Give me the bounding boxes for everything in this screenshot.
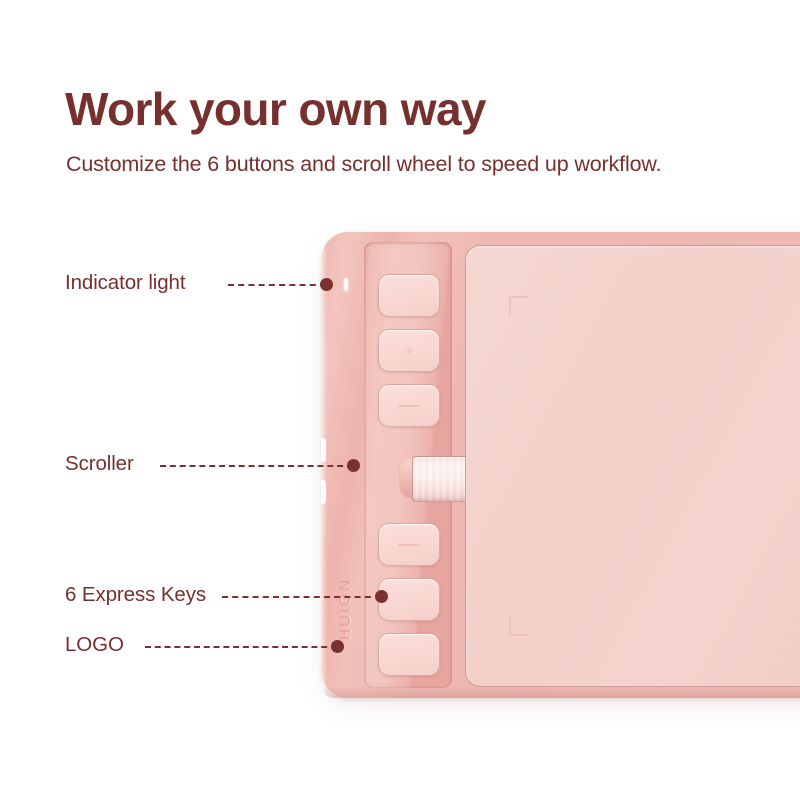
- graphics-tablet-illustration: HUION: [322, 232, 800, 698]
- express-key-2[interactable]: [378, 329, 440, 372]
- key-dash-glyph: [398, 544, 420, 546]
- callout-label-express-keys: 6 Express Keys: [65, 583, 206, 607]
- express-key-strip: [364, 242, 452, 688]
- callout-leader-indicator-light: [228, 284, 326, 286]
- huion-brand-logo: HUION: [337, 572, 355, 646]
- active-drawing-area[interactable]: [465, 245, 800, 687]
- callout-label-scroller: Scroller: [65, 452, 134, 476]
- key-dot-glyph: [407, 348, 412, 353]
- callout-label-indicator-light: Indicator light: [65, 271, 185, 295]
- infographic-canvas: Work your own way Customize the 6 button…: [0, 0, 800, 800]
- callout-dot-indicator-light: [320, 278, 333, 291]
- express-key-5[interactable]: [378, 578, 440, 621]
- express-key-4[interactable]: [378, 523, 440, 566]
- side-grip-notch-top: [321, 438, 326, 462]
- express-key-1[interactable]: [378, 274, 440, 317]
- corner-mark-bottom-left: [509, 617, 528, 636]
- callout-dot-scroller: [347, 459, 360, 472]
- page-title: Work your own way: [65, 84, 486, 135]
- callout-dot-express-keys: [375, 590, 388, 603]
- callout-label-logo: LOGO: [65, 633, 124, 657]
- express-key-3[interactable]: [378, 384, 440, 427]
- key-dash-glyph: [398, 405, 420, 407]
- corner-mark-top-left: [509, 296, 528, 315]
- page-subtitle: Customize the 6 buttons and scroll wheel…: [66, 152, 661, 177]
- callout-leader-express-keys: [222, 596, 381, 598]
- callout-dot-logo: [331, 640, 344, 653]
- callout-leader-logo: [145, 646, 337, 648]
- side-grip-notch-bottom: [321, 480, 326, 504]
- express-key-6[interactable]: [378, 633, 440, 676]
- callout-leader-scroller: [160, 465, 353, 467]
- indicator-light: [344, 278, 348, 291]
